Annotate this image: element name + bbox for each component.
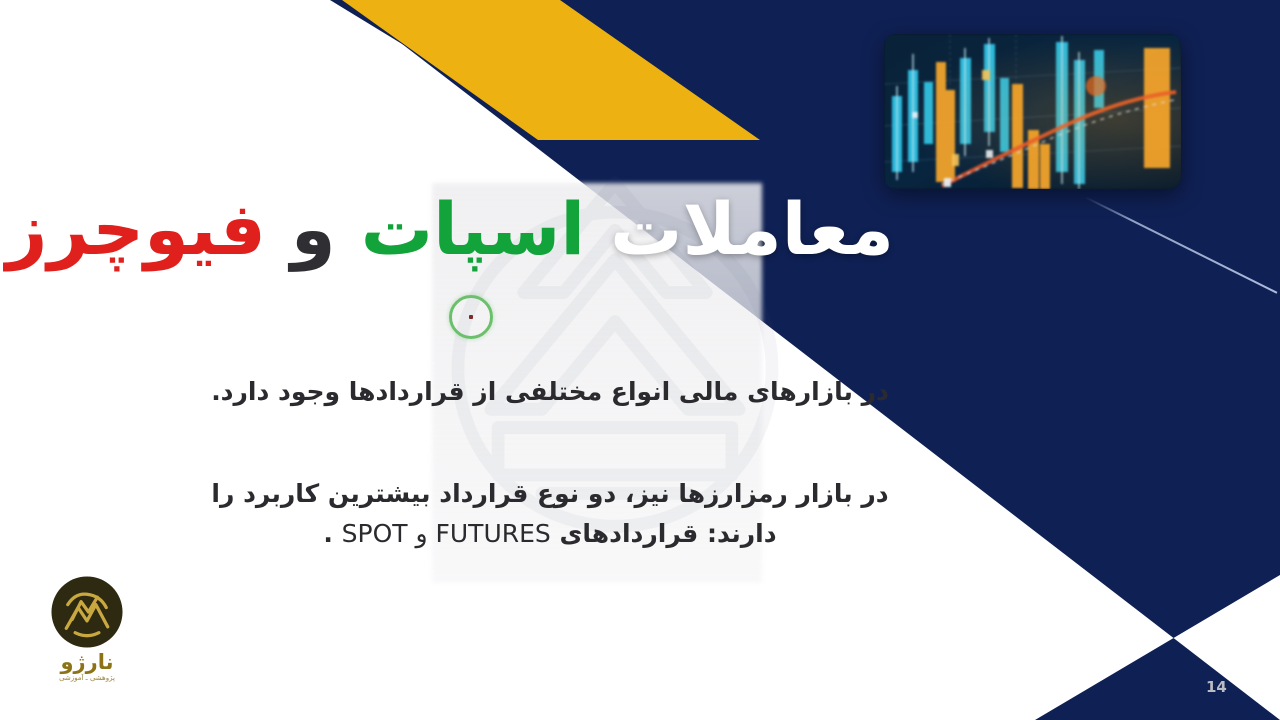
- paragraph-spacer: [180, 412, 920, 474]
- title-segment-conjunction: و: [291, 187, 336, 271]
- body-paragraph-1: در بازارهای مالی انواع مختلفی از قرارداد…: [180, 372, 920, 412]
- body-paragraph-2-suffix: .: [323, 519, 333, 548]
- slide-body-text: در بازارهای مالی انواع مختلفی از قرارداد…: [180, 372, 920, 554]
- brand-logo: نارژو پژوهشی ـ آموزشی: [32, 575, 142, 695]
- slide-number: 14: [1206, 678, 1227, 696]
- body-paragraph-2-line-1: در بازار رمزارزها نیز، دو نوع قرارداد بی…: [180, 474, 920, 514]
- presentation-slide: معاملات اسپات و فیوچرز در بازارهای مالی …: [0, 0, 1280, 720]
- slide-title: معاملات اسپات و فیوچرز: [0, 176, 900, 286]
- title-segment-red: فیوچرز: [6, 187, 266, 271]
- body-paragraph-2-terms: SPOT و FUTURES: [342, 519, 551, 548]
- title-segment-white: معاملات: [610, 187, 894, 271]
- ring-center-dot-icon: [469, 315, 473, 319]
- body-paragraph-2-prefix: دارند: قراردادهای: [560, 519, 777, 548]
- trading-chart-photo: [884, 34, 1181, 189]
- logo-name: نارژو: [32, 651, 142, 673]
- green-ring-bullet-icon: [449, 295, 493, 339]
- title-segment-green: اسپات: [361, 187, 585, 271]
- logo-tagline: پژوهشی ـ آموزشی: [32, 673, 142, 683]
- body-paragraph-2-line-2: دارند: قراردادهای SPOT و FUTURES .: [180, 514, 920, 554]
- nazho-emblem-icon: [50, 575, 124, 649]
